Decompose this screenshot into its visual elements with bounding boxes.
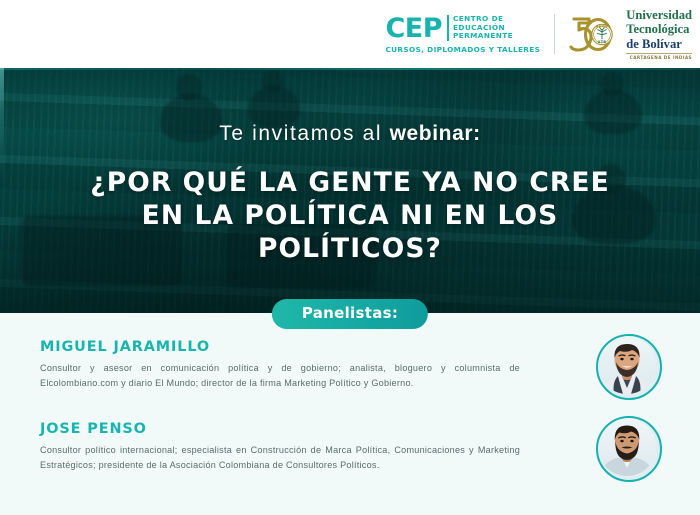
panelist-name: JOSE PENSO: [40, 422, 574, 436]
svg-text:UTB: UTB: [598, 40, 607, 44]
utb-tagline: CARTAGENA DE INDIAS: [626, 53, 692, 60]
utb-wordmark: Universidad Tecnológica de Bolívar CARTA…: [626, 8, 692, 60]
panelistas-badge: Panelistas:: [272, 299, 428, 329]
header-bar: CEP CENTRO DE EDUCACIÓN PERMANENTE CURSO…: [0, 0, 700, 68]
webinar-flyer: CEP CENTRO DE EDUCACIÓN PERMANENTE CURSO…: [0, 0, 700, 515]
hero-kicker: Te invitamos al webinar:: [219, 122, 480, 146]
cep-logo-icon: CEP CENTRO DE EDUCACIÓN PERMANENTE CURSO…: [385, 15, 552, 54]
cep-logo-top: CEP CENTRO DE EDUCACIÓN PERMANENTE: [385, 15, 540, 42]
hero-headline: ¿POR QUÉ LA GENTE YA NO CREE EN LA POLÍT…: [70, 167, 630, 266]
avatar: [596, 334, 662, 400]
utb-line-2: Tecnológica: [626, 22, 692, 36]
hero-content: Te invitamos al webinar: ¿POR QUÉ LA GEN…: [0, 68, 700, 313]
logo-group: CEP CENTRO DE EDUCACIÓN PERMANENTE CURSO…: [385, 6, 692, 62]
panelist-bio: Consultor y asesor en comunicación polít…: [40, 361, 520, 390]
cep-logo-words: CENTRO DE EDUCACIÓN PERMANENTE: [453, 15, 513, 41]
avatar: [596, 416, 662, 482]
panelists-section: MIGUEL JARAMILLO Consultor y asesor en c…: [0, 340, 700, 504]
panelist-bio: Consultor político internacional; especi…: [40, 443, 520, 472]
panelist-name: MIGUEL JARAMILLO: [40, 340, 574, 354]
svg-text:AÑOS: AÑOS: [596, 23, 608, 28]
cep-logo-rule: [447, 15, 449, 41]
cep-line-3: PERMANENTE: [453, 32, 513, 41]
cep-tagline: CURSOS, DIPLOMADOS Y TALLERES: [385, 45, 540, 54]
cep-wordmark: CEP: [385, 15, 442, 42]
hero-banner: Te invitamos al webinar: ¿POR QUÉ LA GEN…: [0, 68, 700, 313]
panelist-row: MIGUEL JARAMILLO Consultor y asesor en c…: [0, 340, 700, 400]
utb-logo-icon: AÑOS UTB Universidad Tecnológica de Bolí…: [569, 8, 692, 60]
panelist-text: MIGUEL JARAMILLO Consultor y asesor en c…: [40, 340, 596, 391]
utb-line-1: Universidad: [626, 8, 692, 22]
utb-anniversary-seal-icon: AÑOS UTB: [569, 13, 619, 55]
hero-kicker-prefix: Te invitamos al: [219, 122, 389, 145]
logo-divider: [554, 14, 555, 54]
panelist-row: JOSE PENSO Consultor político internacio…: [0, 422, 700, 482]
panelist-text: JOSE PENSO Consultor político internacio…: [40, 422, 596, 473]
hero-kicker-strong: webinar:: [390, 122, 481, 145]
utb-line-3: de Bolívar: [626, 37, 692, 51]
